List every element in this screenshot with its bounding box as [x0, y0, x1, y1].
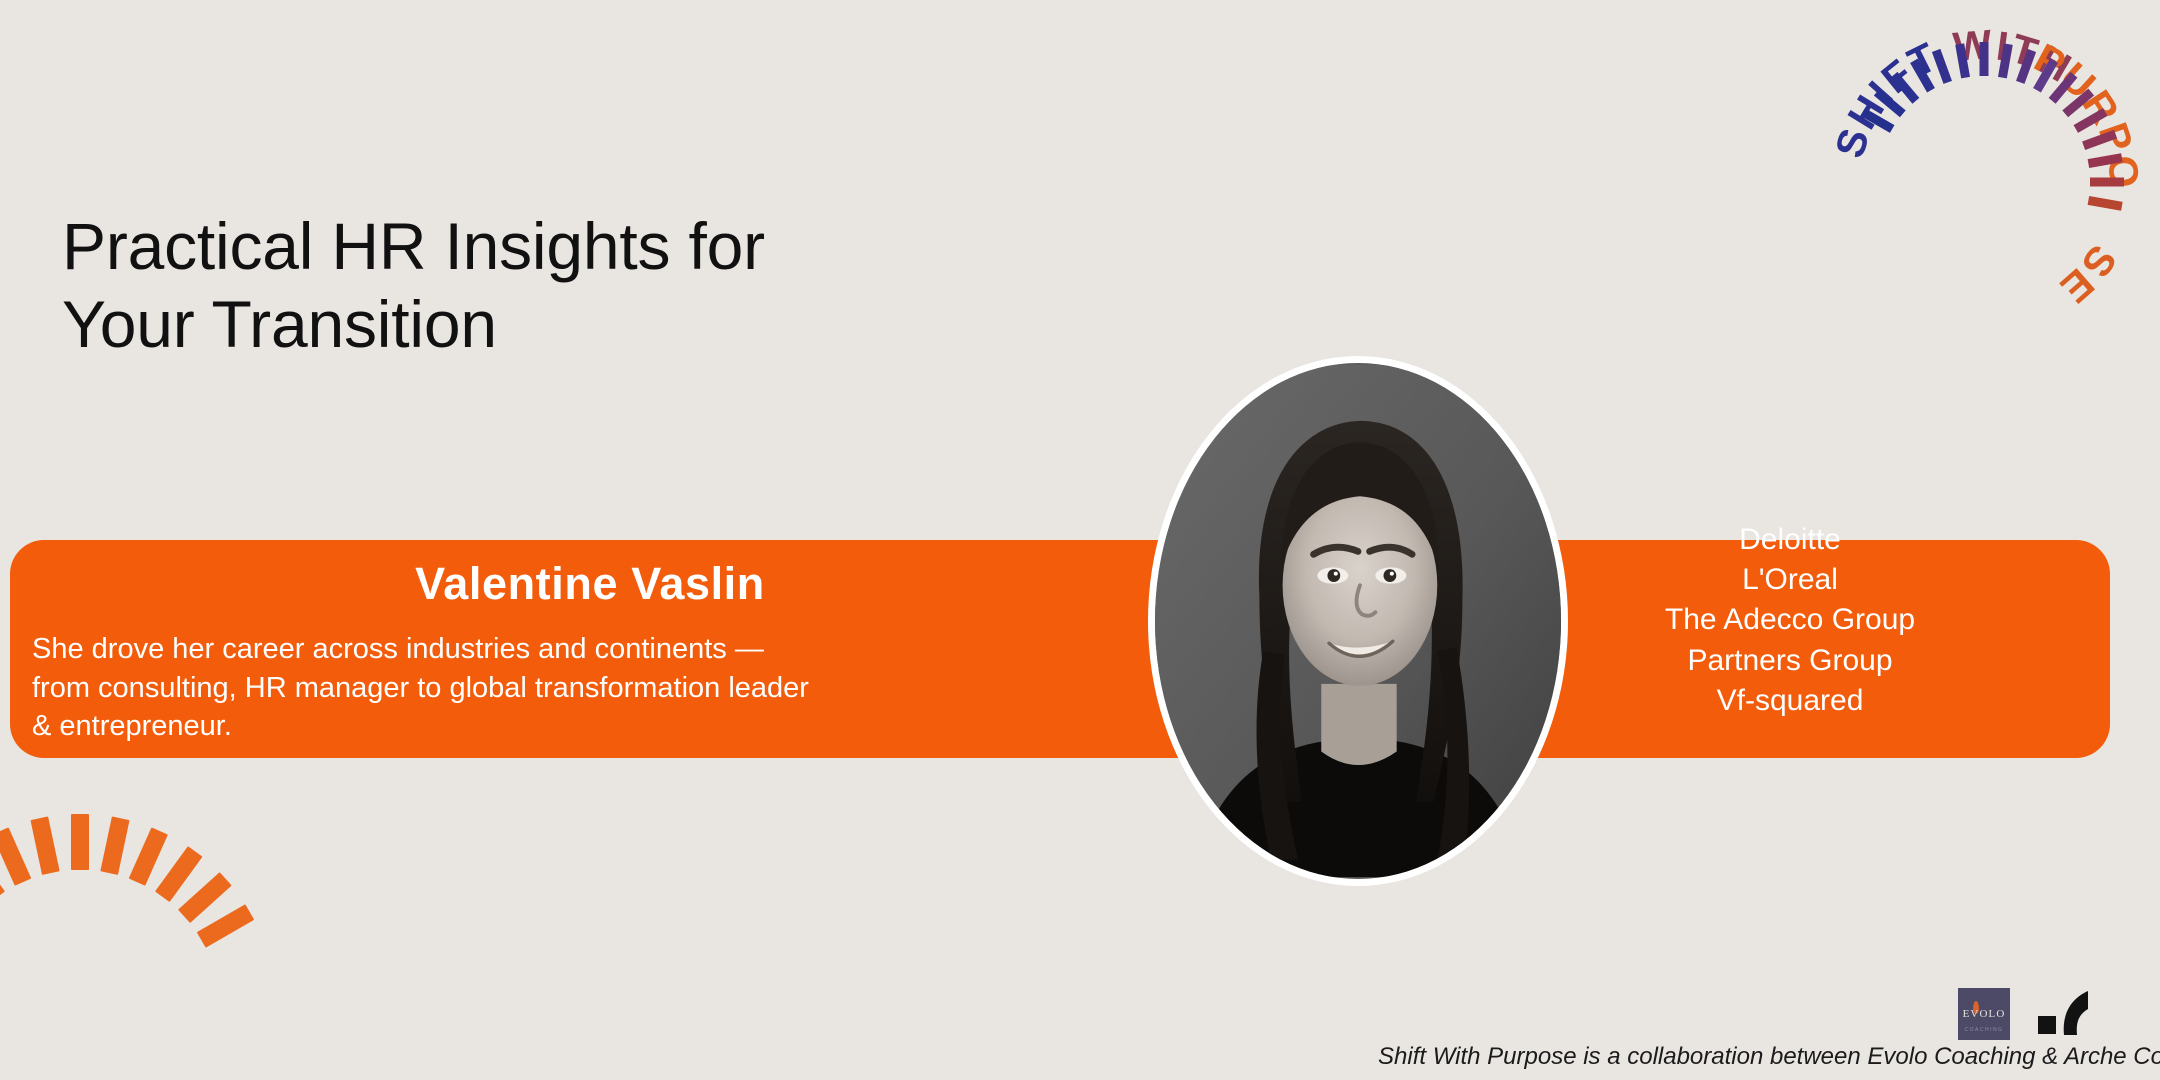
- speaker-photo-oval-frame: [1148, 356, 1568, 886]
- speaker-bio: She drove her career across industries a…: [32, 630, 1122, 746]
- svg-text:SE: SE: [2051, 237, 2126, 314]
- speaker-name: Valentine Vaslin: [10, 558, 1170, 610]
- decorative-arc-bottom-left: [0, 800, 290, 1080]
- svg-text:PURPO: PURPO: [2027, 34, 2148, 191]
- shift-with-purpose-logo: SHIFT WITH PURPO SE: [1812, 6, 2152, 336]
- footer-partner-logos: EVOLO COACHING: [1958, 988, 2092, 1040]
- evolo-logo-sublabel: COACHING: [1958, 1027, 2010, 1033]
- company-item: The Adecco Group: [1510, 600, 2070, 640]
- footer-note: Shift With Purpose is a collaboration be…: [1378, 1043, 2160, 1071]
- svg-text:SHIFT WITH: SHIFT WITH: [1826, 21, 2080, 163]
- company-item: L'Oreal: [1510, 560, 2070, 600]
- page-title: Practical HR Insights for Your Transitio…: [62, 208, 765, 364]
- speaker-photo: [1148, 356, 1568, 886]
- company-item: Deloitte: [1510, 520, 2070, 560]
- company-item: Partners Group: [1510, 641, 2070, 681]
- evolo-logo-label: EVOLO: [1963, 1008, 2006, 1020]
- company-list: Deloitte L'Oreal The Adecco Group Partne…: [1510, 520, 2070, 721]
- speaker-banner: Valentine Vaslin She drove her career ac…: [10, 540, 2110, 758]
- arche-logo: [2036, 989, 2092, 1039]
- company-item: Vf-squared: [1510, 681, 2070, 721]
- slide-canvas: Practical HR Insights for Your Transitio…: [0, 0, 2160, 1080]
- evolo-logo: EVOLO COACHING: [1958, 988, 2010, 1040]
